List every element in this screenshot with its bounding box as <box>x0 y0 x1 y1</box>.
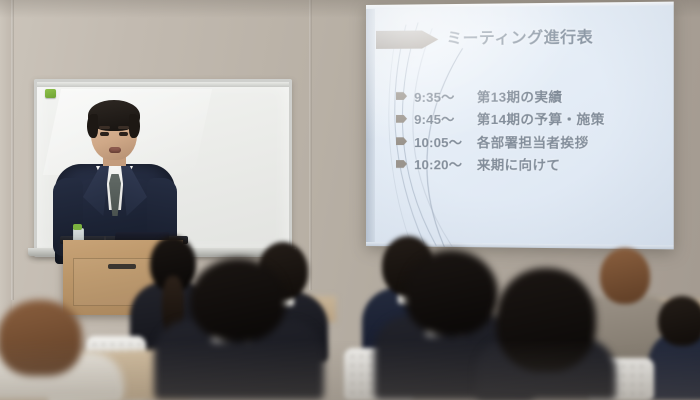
agenda-item: 第14期の予算・施策 <box>477 109 605 128</box>
agenda-item: 各部署担当者挨拶 <box>477 132 589 151</box>
arrow-bullet-icon <box>396 137 407 145</box>
slide-agenda-list: 9:35〜 第13期の実績 9:45〜 第14期の予算・施策 10:05〜 各部… <box>396 84 663 176</box>
arrow-right-banner-icon <box>376 30 438 49</box>
arrow-bullet-icon <box>396 160 407 168</box>
water-bottle-cap <box>73 224 82 230</box>
agenda-time: 10:05〜 <box>414 132 477 151</box>
floor-shadow <box>0 340 700 400</box>
agenda-row: 9:45〜 第14期の予算・施策 <box>396 107 663 130</box>
agenda-item: 第13期の実績 <box>477 86 563 105</box>
arrow-bullet-icon <box>396 92 407 100</box>
presenter-eye-left <box>100 132 109 136</box>
presenter-hair-left <box>87 114 98 138</box>
attendee-head <box>658 296 700 346</box>
presenter-hair-right <box>129 114 140 138</box>
presenter-eye-right <box>119 132 128 136</box>
projection-screen: ミーティング進行表 9:35〜 第13期の実績 9:45〜 第14期の予算・施策… <box>366 2 674 250</box>
slide-title-row: ミーティング進行表 <box>376 24 663 53</box>
wall-seam-left <box>11 0 14 300</box>
agenda-row: 10:20〜 来期に向けて <box>396 153 663 177</box>
meeting-room-photo: ミーティング進行表 9:35〜 第13期の実績 9:45〜 第14期の予算・施策… <box>0 0 700 400</box>
agenda-row: 9:35〜 第13期の実績 <box>396 84 663 108</box>
agenda-time: 9:35〜 <box>414 86 477 105</box>
agenda-time: 10:20〜 <box>414 154 477 173</box>
agenda-item: 来期に向けて <box>477 155 561 175</box>
presenter-eyebrow-left <box>99 126 110 129</box>
agenda-time: 9:45〜 <box>414 109 477 128</box>
slide-title: ミーティング進行表 <box>446 25 593 48</box>
presenter-mouth <box>109 147 121 153</box>
agenda-row: 10:05〜 各部署担当者挨拶 <box>396 130 663 153</box>
whiteboard-frame-top <box>37 82 289 87</box>
screen-left-edge <box>366 5 375 246</box>
attendee-head <box>190 258 286 342</box>
whiteboard-magnet-icon <box>45 89 56 98</box>
presenter-eyebrow-right <box>118 126 129 129</box>
arrow-bullet-icon <box>396 115 407 123</box>
